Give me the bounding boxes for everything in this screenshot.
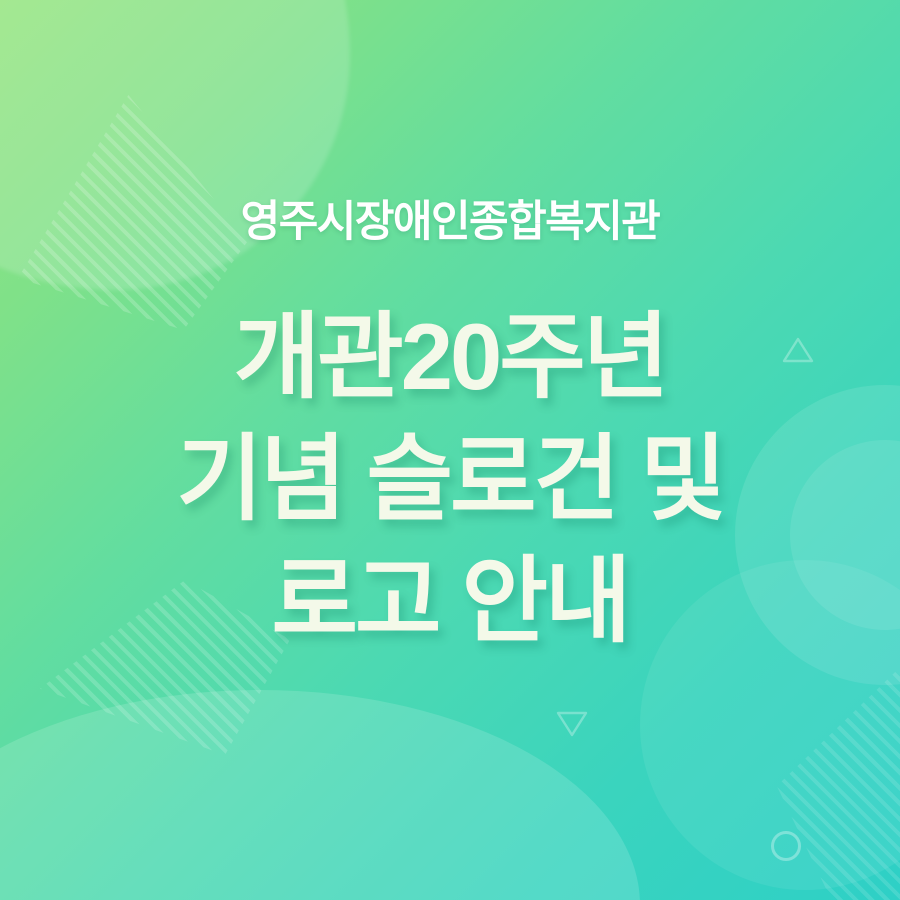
poster-content: 영주시장애인종합복지관 개관20주년 기념 슬로건 및 로고 안내 [0,0,900,900]
title-line-3: 로고 안내 [0,540,900,662]
poster-canvas: 영주시장애인종합복지관 개관20주년 기념 슬로건 및 로고 안내 [0,0,900,900]
title-line-2: 기념 슬로건 및 [0,418,900,540]
page-title: 개관20주년 기념 슬로건 및 로고 안내 [0,296,900,663]
organization-name: 영주시장애인종합복지관 [0,198,900,247]
title-line-1: 개관20주년 [0,296,900,418]
